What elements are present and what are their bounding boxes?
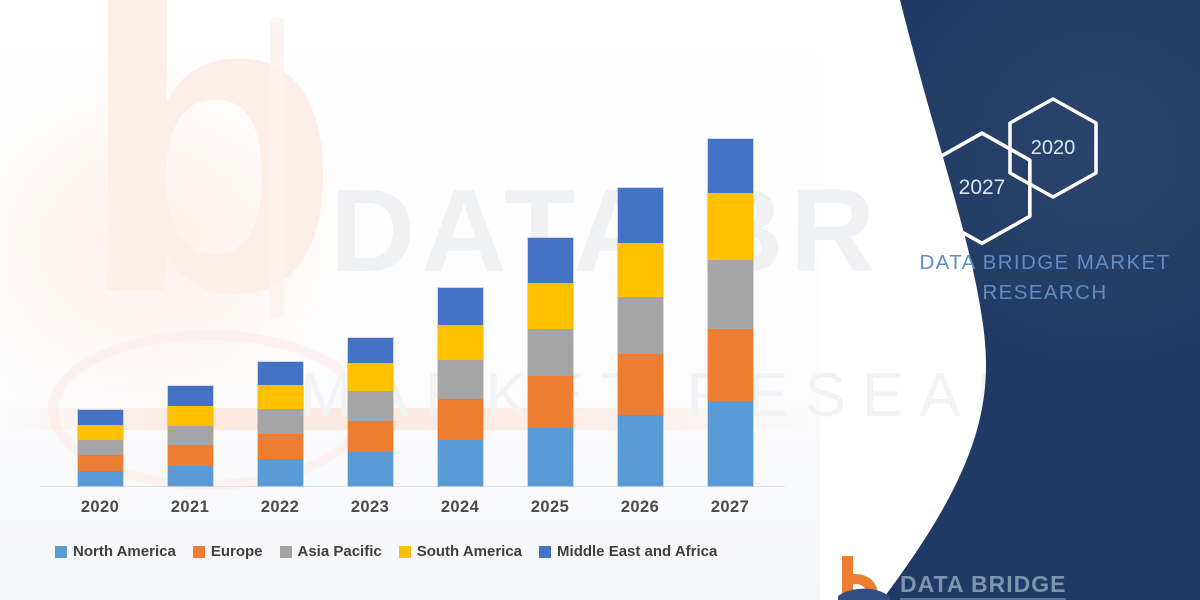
bar-segment[interactable] [618,354,663,414]
legend-item[interactable]: South America [399,543,522,560]
bar-segment[interactable] [168,406,213,426]
bar-segment[interactable] [708,139,753,193]
bar-column[interactable] [685,110,775,486]
data-bridge-logo: DATA BRIDGE [838,556,1066,600]
legend-swatch-icon [399,546,411,558]
bar-segment[interactable] [528,376,573,427]
x-axis-label-2020: 2020 [55,498,145,517]
stacked-bar-2020[interactable] [78,410,123,486]
bar-group [55,110,775,486]
bar-segment[interactable] [348,363,393,391]
bar-column[interactable] [235,110,325,486]
bar-segment[interactable] [258,409,303,434]
x-axis-line [40,486,785,487]
brand-name-line-1: DATA BRIDGE MARKET [900,248,1190,278]
bar-segment[interactable] [258,385,303,409]
bar-segment[interactable] [708,401,753,486]
chart-legend: North AmericaEuropeAsia PacificSouth Ame… [55,543,717,560]
bar-segment[interactable] [618,243,663,297]
brand-name-line-2: RESEARCH [900,278,1190,308]
stacked-bar-2024[interactable] [438,288,483,486]
bar-segment[interactable] [258,434,303,460]
bar-segment[interactable] [78,471,123,486]
hexagon-2027-label: 2027 [959,176,1006,200]
bar-segment[interactable] [78,440,123,456]
bar-segment[interactable] [528,283,573,329]
bar-segment[interactable] [348,421,393,453]
data-bridge-logo-mark-icon [838,556,890,600]
chart-canvas: b DATA BR MARKET RESEARCH 20202021202220… [0,0,1200,600]
legend-label: Europe [211,543,263,560]
bar-segment[interactable] [618,188,663,242]
stacked-bar-2021[interactable] [168,386,213,486]
bar-segment[interactable] [438,360,483,399]
bar-segment[interactable] [78,425,123,440]
bar-segment[interactable] [168,386,213,406]
bar-segment[interactable] [168,426,213,446]
bar-column[interactable] [325,110,415,486]
legend-item[interactable]: Middle East and Africa [539,543,717,560]
hexagon-2020-label: 2020 [1031,137,1076,160]
data-bridge-logo-text: DATA BRIDGE [900,571,1066,600]
bar-segment[interactable] [528,238,573,284]
bar-segment[interactable] [78,455,123,471]
bar-segment[interactable] [528,329,573,376]
x-axis-label-2024: 2024 [415,498,505,517]
bar-segment[interactable] [528,428,573,486]
legend-label: Middle East and Africa [557,543,717,560]
bar-column[interactable] [595,110,685,486]
stacked-bar-2022[interactable] [258,362,303,486]
bar-segment[interactable] [348,338,393,364]
bar-segment[interactable] [78,410,123,425]
x-axis-labels: 20202021202220232024202520262027 [55,498,775,517]
legend-label: North America [73,543,176,560]
stacked-bar-chart: 20202021202220232024202520262027 North A… [0,0,820,600]
x-axis-label-2022: 2022 [235,498,325,517]
legend-item[interactable]: Asia Pacific [280,543,382,560]
bar-segment[interactable] [708,260,753,328]
bar-column[interactable] [415,110,505,486]
x-axis-label-2027: 2027 [685,498,775,517]
x-axis-label-2021: 2021 [145,498,235,517]
x-axis-label-2026: 2026 [595,498,685,517]
bar-segment[interactable] [438,399,483,441]
bar-segment[interactable] [348,391,393,421]
bar-column[interactable] [145,110,235,486]
legend-swatch-icon [539,546,551,558]
stacked-bar-2027[interactable] [708,139,753,486]
bar-segment[interactable] [348,452,393,486]
legend-label: Asia Pacific [298,543,382,560]
legend-item[interactable]: North America [55,543,176,560]
bar-segment[interactable] [708,329,753,401]
legend-swatch-icon [280,546,292,558]
brand-name: DATA BRIDGE MARKET RESEARCH [900,248,1190,308]
bar-segment[interactable] [258,459,303,486]
legend-swatch-icon [193,546,205,558]
bar-segment[interactable] [618,297,663,354]
bar-column[interactable] [55,110,145,486]
bar-segment[interactable] [438,288,483,325]
bar-segment[interactable] [168,445,213,466]
bar-segment[interactable] [168,466,213,486]
hexagon-badge-2020: 2020 [1006,96,1100,200]
legend-swatch-icon [55,546,67,558]
stacked-bar-2026[interactable] [618,188,663,486]
stacked-bar-2023[interactable] [348,338,393,486]
x-axis-label-2025: 2025 [505,498,595,517]
bar-segment[interactable] [258,362,303,385]
legend-label: South America [417,543,522,560]
bar-segment[interactable] [438,325,483,361]
bar-segment[interactable] [438,440,483,486]
x-axis-label-2023: 2023 [325,498,415,517]
stacked-bar-2025[interactable] [528,238,573,486]
bar-column[interactable] [505,110,595,486]
bar-segment[interactable] [708,193,753,260]
bar-segment[interactable] [618,415,663,486]
legend-item[interactable]: Europe [193,543,263,560]
